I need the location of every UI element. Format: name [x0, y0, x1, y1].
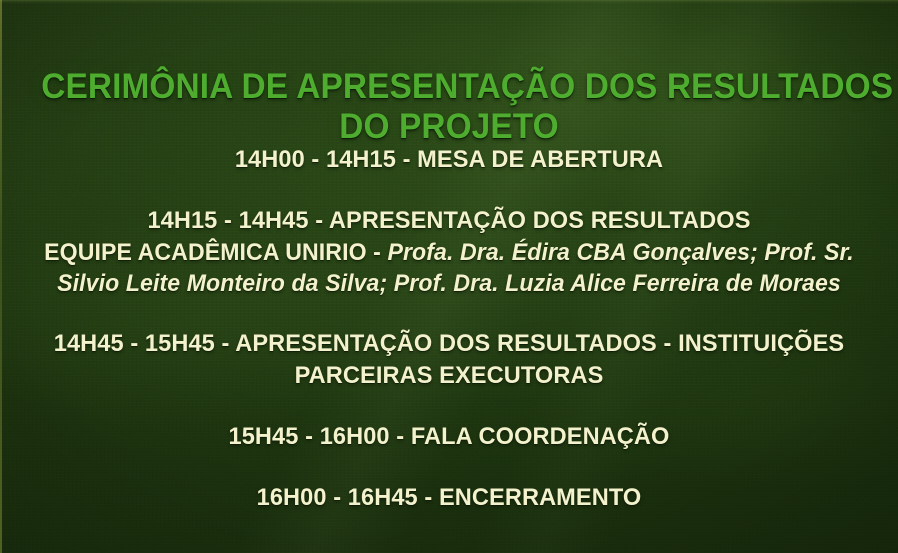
- schedule-list: 14H00 - 14H15 - MESA DE ABERTURA 14H15 -…: [10, 144, 888, 513]
- schedule-item-line: 14H15 - 14H45 - APRESENTAÇÃO DOS RESULTA…: [27, 205, 872, 237]
- schedule-item-line-continued: PARCEIRAS EXECUTORAS: [27, 360, 872, 392]
- schedule-item-fala-coordenacao: 15H45 - 16H00 - FALA COORDENAÇÃO: [27, 421, 872, 453]
- presentation-slide: CERIMÔNIA DE APRESENTAÇÃO DOS RESULTADOS…: [0, 0, 898, 553]
- schedule-item-line: 14H45 - 15H45 - APRESENTAÇÃO DOS RESULTA…: [27, 328, 872, 360]
- schedule-item-line: 15H45 - 16H00 - FALA COORDENAÇÃO: [27, 421, 872, 453]
- schedule-item-line: 16H00 - 16H45 - ENCERRAMENTO: [27, 482, 872, 514]
- schedule-item-apresentacao-resultados-unirio: 14H15 - 14H45 - APRESENTAÇÃO DOS RESULTA…: [27, 205, 872, 299]
- schedule-item-instituicoes-parceiras: 14H45 - 15H45 - APRESENTAÇÃO DOS RESULTA…: [27, 328, 872, 392]
- slide-content: CERIMÔNIA DE APRESENTAÇÃO DOS RESULTADOS…: [0, 0, 898, 553]
- schedule-item-mesa-de-abertura: 14H00 - 14H15 - MESA DE ABERTURA: [27, 144, 872, 176]
- page-title-line-2: DO PROJETO: [41, 107, 857, 146]
- schedule-item-team-line: EQUIPE ACADÊMICA UNIRIO - Profa. Dra. Éd…: [27, 237, 872, 268]
- team-label: EQUIPE ACADÊMICA UNIRIO -: [44, 239, 387, 266]
- page-title-line-1: CERIMÔNIA DE APRESENTAÇÃO DOS RESULTADOS: [41, 67, 857, 106]
- page-title: CERIMÔNIA DE APRESENTAÇÃO DOS RESULTADOS…: [41, 67, 857, 145]
- team-names-part-2: Silvio Leite Monteiro da Silva; Prof. Dr…: [27, 268, 872, 299]
- schedule-item-encerramento: 16H00 - 16H45 - ENCERRAMENTO: [27, 482, 872, 514]
- schedule-item-line: 14H00 - 14H15 - MESA DE ABERTURA: [27, 144, 872, 176]
- team-names-part-1: Profa. Dra. Édira CBA Gonçalves; Prof. S…: [387, 239, 853, 266]
